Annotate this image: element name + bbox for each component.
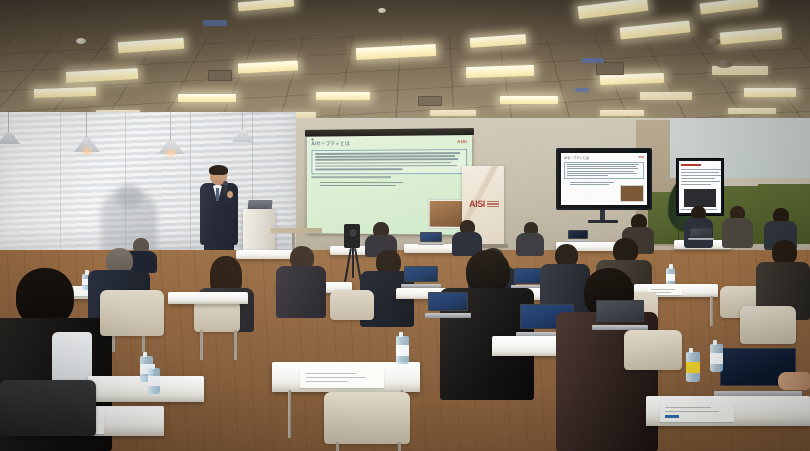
laptop[interactable] — [404, 266, 438, 288]
slide-subnote — [311, 176, 391, 177]
ceiling-signage — [582, 58, 604, 63]
suspended-ceiling — [0, 0, 810, 128]
handout — [660, 402, 734, 422]
ceiling-light — [430, 110, 476, 116]
monitor-thumbnail-image — [620, 185, 644, 202]
chair[interactable] — [740, 306, 796, 344]
ceiling-speaker — [706, 38, 720, 45]
ceiling-light — [744, 88, 796, 97]
pendant-lamp-glow — [162, 148, 180, 158]
pendant-lamp-rod — [86, 112, 87, 140]
handout — [300, 368, 384, 388]
slide-title: AIセーフティとは — [311, 139, 467, 147]
attendee-hand — [778, 372, 810, 390]
ceiling-light — [700, 0, 759, 14]
handout-accent — [665, 415, 679, 418]
aisi-logo: AISI — [457, 139, 467, 144]
ceiling-light — [500, 96, 558, 104]
smoke-detector-icon — [378, 8, 386, 13]
chair[interactable] — [100, 290, 164, 336]
ceiling-light — [238, 0, 295, 11]
microphone-head-icon — [223, 181, 228, 186]
pendant-lamp-rod — [8, 112, 9, 134]
ceiling-light — [728, 108, 776, 114]
ceiling-light — [577, 0, 648, 19]
chair-leg — [234, 330, 237, 360]
attendee — [684, 206, 714, 248]
laptop[interactable] — [568, 230, 588, 242]
chair[interactable] — [624, 330, 682, 370]
monitor-slide-title: AIセーフティとは — [564, 155, 644, 160]
desk-leg — [288, 390, 291, 438]
attendee-torso — [722, 218, 753, 248]
ceiling-signage — [575, 88, 589, 92]
pendant-lamp-glow — [78, 146, 96, 156]
banner-subtext — [487, 201, 499, 208]
water-bottle — [396, 336, 409, 364]
chair-leg — [336, 442, 339, 451]
ceiling-vent — [596, 62, 624, 75]
ceiling-light — [316, 92, 370, 100]
chair[interactable] — [194, 300, 240, 332]
laptop[interactable] — [596, 300, 644, 330]
attendee — [722, 206, 754, 248]
seminar-room-photo: AIセーフティとは AISI AI — [0, 0, 810, 451]
desk-leg — [710, 296, 713, 326]
confidence-monitor[interactable]: AIセーフティとは AISI — [556, 148, 652, 222]
pendant-lamp-rod — [242, 112, 243, 132]
smoke-detector-icon — [76, 38, 86, 44]
attendee — [276, 246, 326, 316]
monitor-slide-content: AIセーフティとは AISI — [561, 153, 647, 205]
ceiling-speaker — [716, 60, 733, 68]
laptop[interactable] — [420, 232, 442, 245]
desk — [168, 292, 248, 304]
monitor-bezel: AIセーフティとは AISI — [556, 148, 652, 210]
ceiling-signage — [203, 20, 227, 26]
pendant-lamp-rod — [170, 112, 171, 142]
presenter-shadow-head — [116, 184, 142, 208]
ceiling-light — [178, 94, 236, 102]
aisi-logo: AISI — [638, 155, 644, 159]
side-table — [270, 228, 322, 233]
presenter-hair — [209, 165, 228, 175]
monitor-foot — [588, 220, 618, 223]
laptop[interactable] — [428, 292, 468, 318]
chair[interactable] — [330, 290, 374, 320]
chair[interactable] — [0, 380, 96, 436]
attendee-torso — [276, 266, 326, 318]
slide-bullets — [311, 182, 406, 187]
camera-lens-icon — [348, 228, 358, 238]
presenter-hand — [227, 191, 233, 198]
monitor-text-box — [564, 162, 644, 179]
water-bottle — [710, 344, 723, 372]
water-bottle — [148, 368, 160, 394]
presenter — [196, 166, 242, 262]
ceiling-light — [600, 110, 644, 116]
tripod-leg — [352, 248, 354, 278]
banner-logo: AISI — [469, 199, 485, 209]
ceiling-light — [640, 92, 692, 100]
chair-leg — [200, 330, 203, 360]
projected-slide: AIセーフティとは AISI — [307, 135, 472, 235]
chair-leg — [398, 442, 401, 451]
laptop[interactable] — [690, 228, 712, 240]
ceiling-vent — [418, 96, 442, 106]
slide-text-box — [311, 149, 467, 174]
ceiling-vent — [208, 70, 232, 81]
chair[interactable] — [324, 392, 410, 444]
water-bottle — [686, 352, 700, 382]
